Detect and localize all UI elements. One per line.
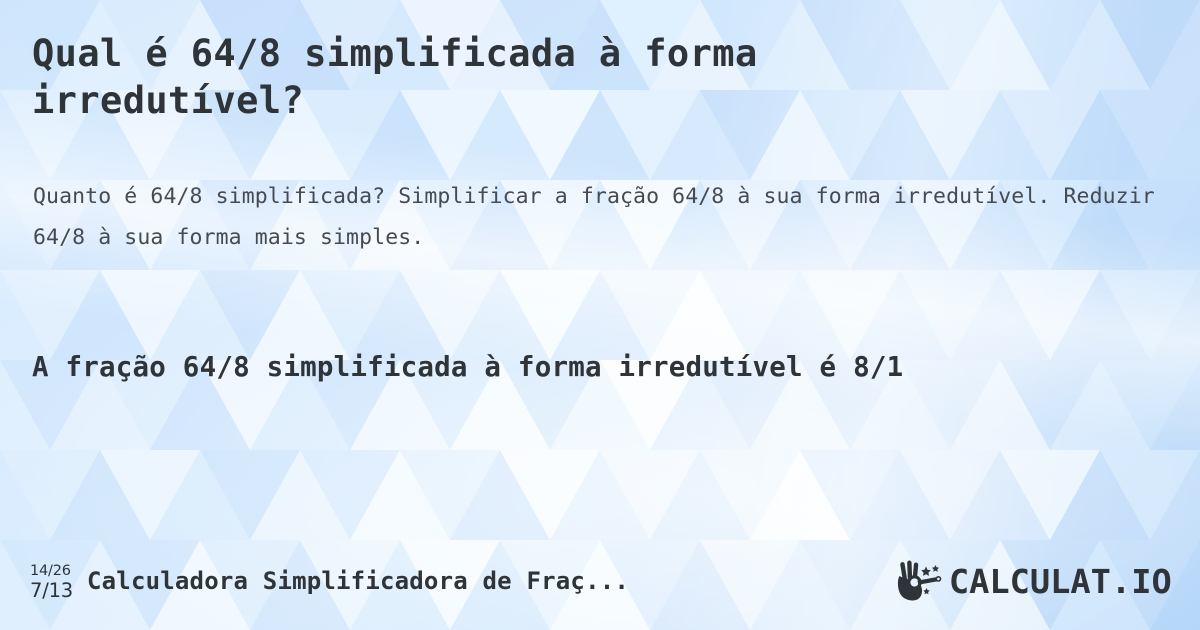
share-card: Qual é 64/8 simplificada à forma irredut… — [0, 0, 1200, 630]
footer: 14/26 7/13 Calculadora Simplificadora de… — [0, 556, 1200, 606]
page-description: Quanto é 64/8 simplificada? Simplificar … — [33, 176, 1173, 258]
fraction-reduce-icon-numerator: 14/26 — [30, 564, 71, 579]
fraction-reduce-icon-denominator: 7/13 — [30, 581, 73, 601]
fraction-reduce-icon: 14/26 7/13 — [30, 564, 73, 601]
page-title: Qual é 64/8 simplificada à forma irredut… — [32, 30, 1032, 124]
footer-section-title: Calculadora Simplificadora de Fraç... — [87, 567, 629, 595]
answer-text: A fração 64/8 simplificada à forma irred… — [32, 345, 1172, 390]
hand-magic-wand-icon — [895, 560, 947, 602]
brand-logo[interactable]: CALCULAT.IO — [895, 560, 1170, 602]
brand-name: CALCULAT.IO — [949, 565, 1172, 598]
card-content: Qual é 64/8 simplificada à forma irredut… — [0, 0, 1200, 630]
